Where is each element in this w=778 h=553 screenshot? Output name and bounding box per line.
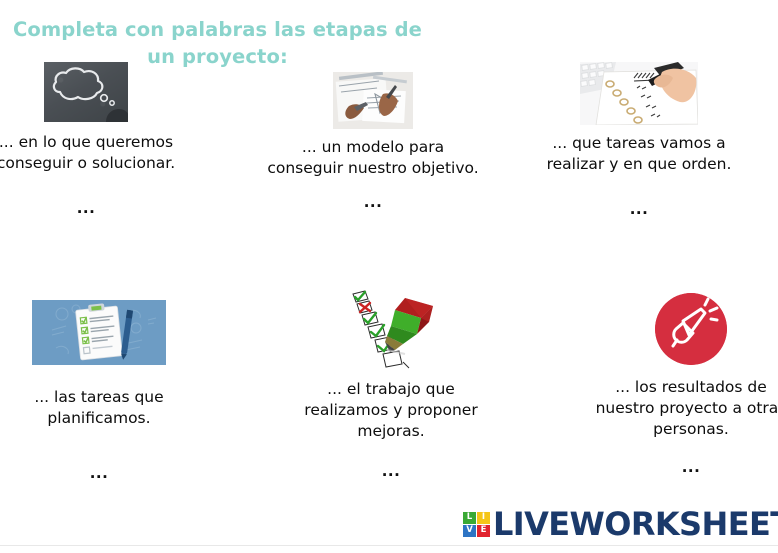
exercise-card-6: ... los resultados de nuestro proyecto a… (584, 293, 778, 474)
card-5-text: ... el trabajo que realizamos y proponer… (285, 379, 497, 442)
card-2-text: ... un modelo para conseguir nuestro obj… (267, 137, 479, 179)
card-1-text: ... en lo que queremos conseguir o soluc… (0, 132, 194, 174)
logo-cell-l: L (463, 512, 476, 524)
exercise-card-1: ... en lo que queremos conseguir o soluc… (0, 62, 194, 215)
exercise-card-3: ... que tareas vamos a realizar y en que… (533, 62, 745, 216)
brand-name: LIVEWORKSHEETS (493, 508, 778, 540)
clipboard-checklist-illustration (32, 300, 166, 365)
worksheet-page: Completa con palabras las etapas de un p… (0, 0, 778, 553)
megaphone-icon-image (655, 293, 727, 365)
logo-cell-e: E (477, 525, 490, 537)
architect-drawing-illustration (333, 72, 413, 129)
liveworksheets-logo[interactable]: L I V E LIVEWORKSHEETS (463, 508, 778, 540)
logo-cell-v: V (463, 525, 476, 537)
clipboard-checklist-image (32, 300, 166, 365)
exercise-card-5: ... el trabajo que realizamos y proponer… (285, 288, 497, 478)
card-6-answer-blank[interactable]: ... (584, 460, 778, 474)
checklist-pencil-3d-image (343, 288, 439, 370)
hand-writing-notebook-illustration (580, 62, 698, 125)
clipboard-shape (75, 302, 122, 360)
logo-cell-i: I (477, 512, 490, 524)
thought-bubble-chalk-drawing (44, 62, 128, 122)
card-3-text: ... que tareas vamos a realizar y en que… (533, 133, 745, 175)
pencil-3d-shape (385, 298, 433, 352)
exercise-card-2: ... un modelo para conseguir nuestro obj… (267, 72, 479, 209)
exercise-card-4: ... las tareas que planificamos. ... (0, 300, 207, 480)
footer-divider (0, 545, 778, 546)
megaphone-icon (655, 293, 727, 365)
card-3-answer-blank[interactable]: ... (533, 202, 745, 216)
card-4-answer-blank[interactable]: ... (0, 466, 207, 480)
card-4-text: ... las tareas que planificamos. (0, 387, 207, 429)
card-6-text: ... los resultados de nuestro proyecto a… (584, 377, 778, 440)
notebook-writing-list-image (580, 62, 698, 125)
drafting-plans-image (333, 72, 413, 129)
checkboxes-with-pencil-illustration (343, 288, 439, 370)
card-5-answer-blank[interactable]: ... (285, 464, 497, 478)
card-1-answer-blank[interactable]: ... (0, 201, 194, 215)
card-2-answer-blank[interactable]: ... (267, 195, 479, 209)
logo-grid-icon: L I V E (463, 512, 490, 537)
chalkboard-thought-bubble-image (44, 62, 128, 122)
